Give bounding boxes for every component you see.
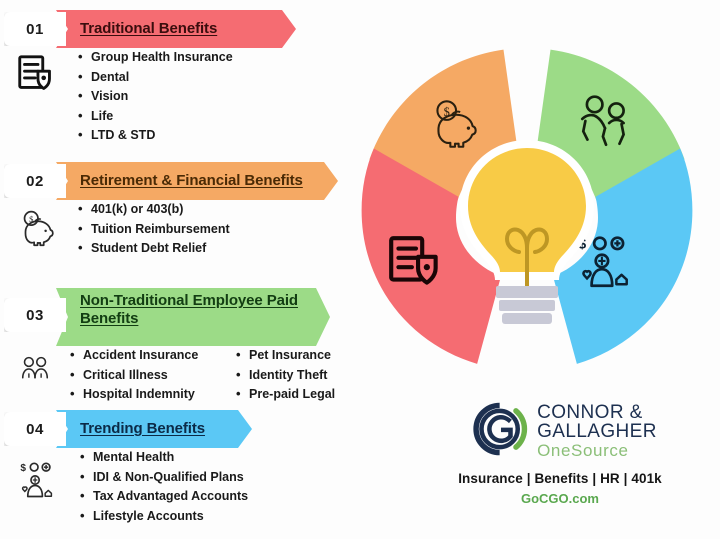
section-number: 03 bbox=[26, 307, 44, 324]
svg-text:$: $ bbox=[20, 463, 26, 474]
benefits-list-column: 01 Traditional Benefits bbox=[0, 0, 400, 539]
section-non-traditional-benefits: 03 Non-Traditional Employee Paid Benefit… bbox=[0, 288, 400, 412]
list-item: Vision bbox=[78, 87, 233, 107]
benefit-columns: Mental Health IDI & Non-Qualified Plans … bbox=[80, 448, 248, 526]
list-item: Student Debt Relief bbox=[78, 239, 230, 259]
list-item: Tuition Reimbursement bbox=[78, 220, 230, 240]
section-number-badge-01: 01 bbox=[4, 12, 66, 46]
website-url[interactable]: GoCGO.com bbox=[410, 491, 710, 506]
section-trending-benefits: 04 Trending Benefits $ bbox=[0, 410, 400, 538]
list-item: Critical Illness bbox=[70, 366, 222, 386]
company-logo-block: CONNOR & GALLAGHER OneSource Insurance |… bbox=[410, 400, 710, 532]
document-shield-icon bbox=[14, 52, 60, 98]
benefit-list-secondary: Pet Insurance Identity Theft Pre-paid Le… bbox=[236, 346, 335, 405]
logo-line-2: GALLAGHER bbox=[537, 422, 657, 441]
list-item: Lifestyle Accounts bbox=[80, 507, 248, 527]
section-number-badge-03: 03 bbox=[4, 298, 66, 332]
section-banner-traditional[interactable]: Traditional Benefits bbox=[56, 10, 296, 48]
piggy-bank-icon: $ bbox=[14, 204, 60, 250]
list-item: Tax Advantaged Accounts bbox=[80, 487, 248, 507]
section-number: 04 bbox=[26, 421, 44, 438]
list-item: Dental bbox=[78, 68, 233, 88]
section-body: $ 401(k) or 403(b) Tuition Reimbursement… bbox=[0, 200, 400, 272]
list-item: IDI & Non-Qualified Plans bbox=[80, 468, 248, 488]
two-people-icon bbox=[14, 348, 60, 394]
logo-line-1: CONNOR & bbox=[537, 403, 657, 422]
logo-line-3: OneSource bbox=[537, 442, 657, 459]
benefit-columns: Accident Insurance Critical Illness Hosp… bbox=[70, 346, 335, 405]
benefit-list: Accident Insurance Critical Illness Hosp… bbox=[70, 346, 222, 405]
section-retirement-benefits: 02 Retirement & Financial Benefits $ bbox=[0, 162, 400, 272]
logo-wordmark: CONNOR & GALLAGHER OneSource bbox=[537, 403, 657, 459]
list-item: 401(k) or 403(b) bbox=[78, 200, 230, 220]
section-banner-trending[interactable]: Trending Benefits bbox=[56, 410, 252, 448]
document-shield-icon bbox=[385, 232, 447, 299]
section-banner-row: 04 Trending Benefits bbox=[0, 410, 400, 448]
list-item: Group Health Insurance bbox=[78, 48, 233, 68]
section-banner-row: 02 Retirement & Financial Benefits bbox=[0, 162, 400, 200]
section-number: 01 bbox=[26, 21, 44, 38]
section-number: 02 bbox=[26, 173, 44, 190]
benefits-wheel-diagram: $ bbox=[352, 42, 702, 392]
benefit-list: Group Health Insurance Dental Vision Lif… bbox=[78, 48, 233, 146]
cgo-monogram-icon bbox=[463, 400, 529, 463]
section-banner-row: 03 Non-Traditional Employee Paid Benefit… bbox=[0, 288, 400, 346]
section-title: Non-Traditional Employee Paid Benefits bbox=[80, 292, 330, 328]
section-banner-non-traditional[interactable]: Non-Traditional Employee Paid Benefits bbox=[56, 288, 330, 346]
employee-benefits-person-icon: $ bbox=[14, 458, 60, 504]
list-item: LTD & STD bbox=[78, 126, 233, 146]
section-body: Group Health Insurance Dental Vision Lif… bbox=[0, 48, 400, 158]
benefit-list: Mental Health IDI & Non-Qualified Plans … bbox=[80, 448, 248, 526]
list-item: Hospital Indemnity bbox=[70, 385, 222, 405]
section-body: Accident Insurance Critical Illness Hosp… bbox=[0, 346, 400, 412]
list-item: Pre-paid Legal bbox=[236, 385, 335, 405]
section-number-badge-02: 02 bbox=[4, 164, 66, 198]
logo-row: CONNOR & GALLAGHER OneSource bbox=[410, 400, 710, 462]
section-body: $ Mental Health IDI bbox=[0, 448, 400, 538]
section-title: Traditional Benefits bbox=[80, 20, 243, 38]
section-title: Trending Benefits bbox=[80, 420, 231, 438]
lightbulb-icon bbox=[444, 138, 610, 328]
list-item: Pet Insurance bbox=[236, 346, 335, 366]
list-item: Life bbox=[78, 107, 233, 127]
section-banner-row: 01 Traditional Benefits bbox=[0, 10, 400, 48]
benefit-columns: Group Health Insurance Dental Vision Lif… bbox=[78, 48, 233, 146]
section-banner-retirement[interactable]: Retirement & Financial Benefits bbox=[56, 162, 338, 200]
list-item: Accident Insurance bbox=[70, 346, 222, 366]
section-title: Retirement & Financial Benefits bbox=[80, 172, 329, 190]
list-item: Identity Theft bbox=[236, 366, 335, 386]
benefit-list: 401(k) or 403(b) Tuition Reimbursement S… bbox=[78, 200, 230, 259]
list-item: Mental Health bbox=[80, 448, 248, 468]
benefit-columns: 401(k) or 403(b) Tuition Reimbursement S… bbox=[78, 200, 230, 259]
logo-tagline: Insurance | Benefits | HR | 401k bbox=[410, 471, 710, 486]
section-traditional-benefits: 01 Traditional Benefits bbox=[0, 10, 400, 158]
infographic-page: 01 Traditional Benefits bbox=[0, 0, 720, 539]
section-number-badge-04: 04 bbox=[4, 412, 66, 446]
